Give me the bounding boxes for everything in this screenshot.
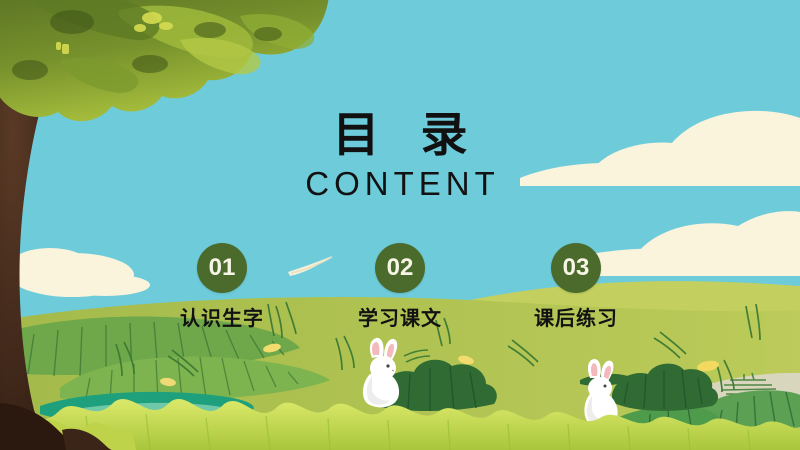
menu-item-03[interactable]: 03 课后练习 — [496, 243, 656, 331]
menu-number-02: 02 — [387, 256, 414, 280]
menu-item-02[interactable]: 02 学习课文 — [320, 243, 480, 331]
menu-item-01[interactable]: 01 认识生字 — [142, 243, 302, 331]
menu-label-01: 认识生字 — [142, 302, 302, 331]
menu-badge-03[interactable]: 03 — [551, 243, 601, 293]
menu-badge-01[interactable]: 01 — [197, 243, 247, 293]
menu-label-03: 课后练习 — [496, 302, 656, 331]
menu-number-03: 03 — [563, 256, 590, 280]
slide-canvas: 目 录 CONTENT 01 认识生字 02 学习课文 03 课后练习 — [0, 0, 800, 450]
menu-label-02: 学习课文 — [320, 302, 480, 331]
content-menu: 01 认识生字 02 学习课文 03 课后练习 — [0, 243, 800, 333]
menu-number-01: 01 — [209, 256, 236, 280]
scenery-illustration — [0, 0, 800, 450]
menu-badge-02[interactable]: 02 — [375, 243, 425, 293]
